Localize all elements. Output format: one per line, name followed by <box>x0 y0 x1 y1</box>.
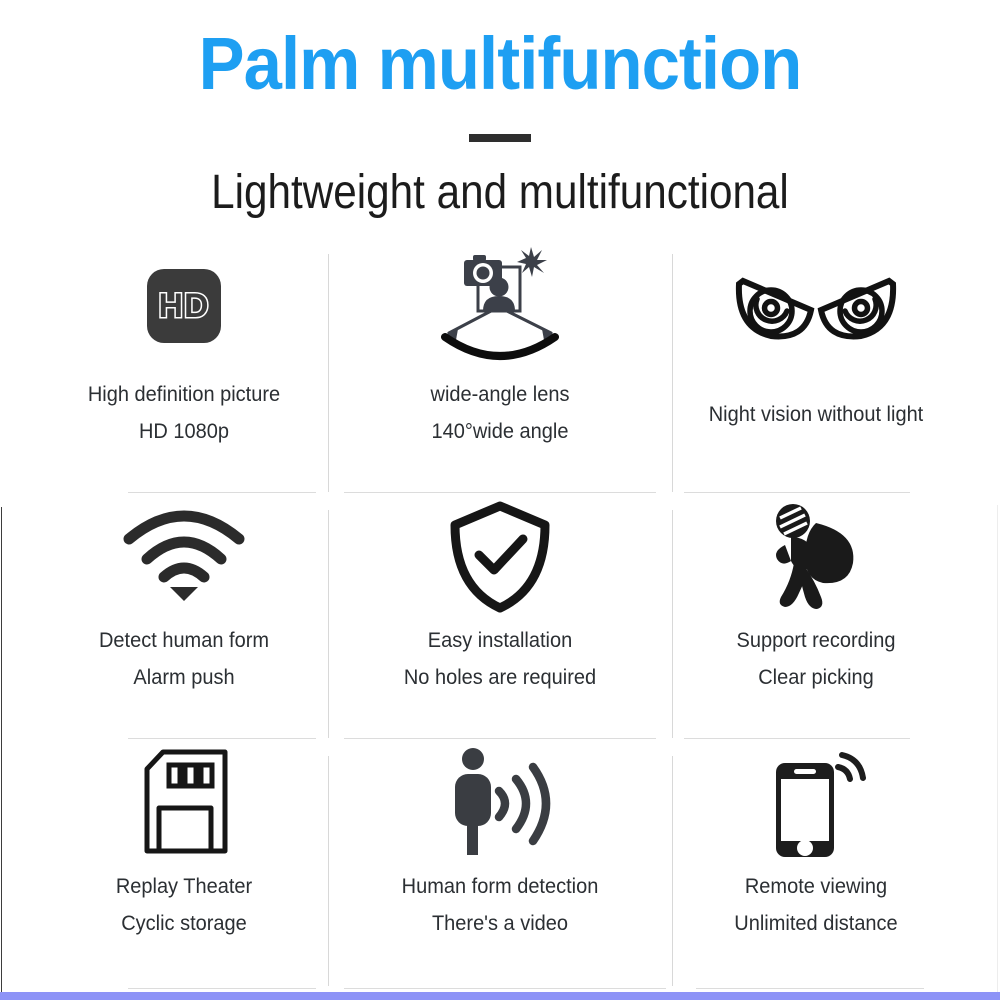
feature-caption-line: HD 1080p <box>50 413 318 450</box>
feature-caption-line: 140°wide angle <box>340 413 660 450</box>
hd-badge-label: HD <box>158 289 209 323</box>
thief-with-bag-icon <box>761 492 871 622</box>
feature-cell-replay-theater: Replay Theater Cyclic storage <box>40 738 328 988</box>
feature-cell-remote-viewing: Remote viewing Unlimited distance <box>672 738 960 988</box>
feature-caption-line: There's a video <box>340 905 660 942</box>
feature-caption-line: Night vision without light <box>682 396 950 433</box>
feature-caption-line: Human form detection <box>340 868 660 905</box>
row-divider <box>128 988 316 989</box>
feature-caption-line: Unlimited distance <box>682 905 950 942</box>
feature-cell-human-form-detection: Human form detection There's a video <box>328 738 672 988</box>
row-divider <box>696 988 924 989</box>
feature-caption-line: Cyclic storage <box>50 905 318 942</box>
feature-caption-line: High definition picture <box>50 376 318 413</box>
feature-cell-night-vision: Night vision without light <box>672 236 960 492</box>
page-title: Palm multifunction <box>35 22 965 106</box>
feature-caption-line: Replay Theater <box>50 868 318 905</box>
feature-caption-line: Remote viewing <box>682 868 950 905</box>
feature-cell-hd: HD High definition picture HD 1080p <box>40 236 328 492</box>
feature-caption-line: Support recording <box>682 622 950 659</box>
feature-caption-line: wide-angle lens <box>340 376 660 413</box>
header: Palm multifunction Lightweight and multi… <box>0 0 1000 236</box>
title-divider <box>469 134 531 142</box>
right-edge-rule <box>997 505 998 992</box>
page-subtitle: Lightweight and multifunctional <box>60 164 940 222</box>
shield-check-icon <box>448 492 552 622</box>
wifi-signal-icon <box>121 492 247 622</box>
hd-badge-icon: HD <box>147 236 221 376</box>
feature-grid: HD High definition picture HD 1080p <box>0 236 1000 996</box>
bottom-accent-strip <box>0 992 1000 1000</box>
infographic-page: Palm multifunction Lightweight and multi… <box>0 0 1000 1000</box>
feature-caption-line: Easy installation <box>340 622 660 659</box>
left-edge-rule <box>1 507 2 992</box>
feature-caption-line: Detect human form <box>50 622 318 659</box>
sd-card-icon <box>135 738 233 868</box>
wide-angle-camera-icon <box>425 236 575 376</box>
human-motion-sensor-icon <box>441 738 559 868</box>
smartphone-wifi-icon <box>762 738 870 868</box>
feature-caption-line: No holes are required <box>340 659 660 696</box>
feature-cell-easy-installation: Easy installation No holes are required <box>328 492 672 738</box>
feature-cell-detect-human-form: Detect human form Alarm push <box>40 492 328 738</box>
night-vision-eyes-icon <box>731 236 901 396</box>
row-divider <box>344 988 666 989</box>
feature-caption-line: Alarm push <box>50 659 318 696</box>
feature-cell-support-recording: Support recording Clear picking <box>672 492 960 738</box>
feature-cell-wide-angle: wide-angle lens 140°wide angle <box>328 236 672 492</box>
feature-caption-line: Clear picking <box>682 659 950 696</box>
